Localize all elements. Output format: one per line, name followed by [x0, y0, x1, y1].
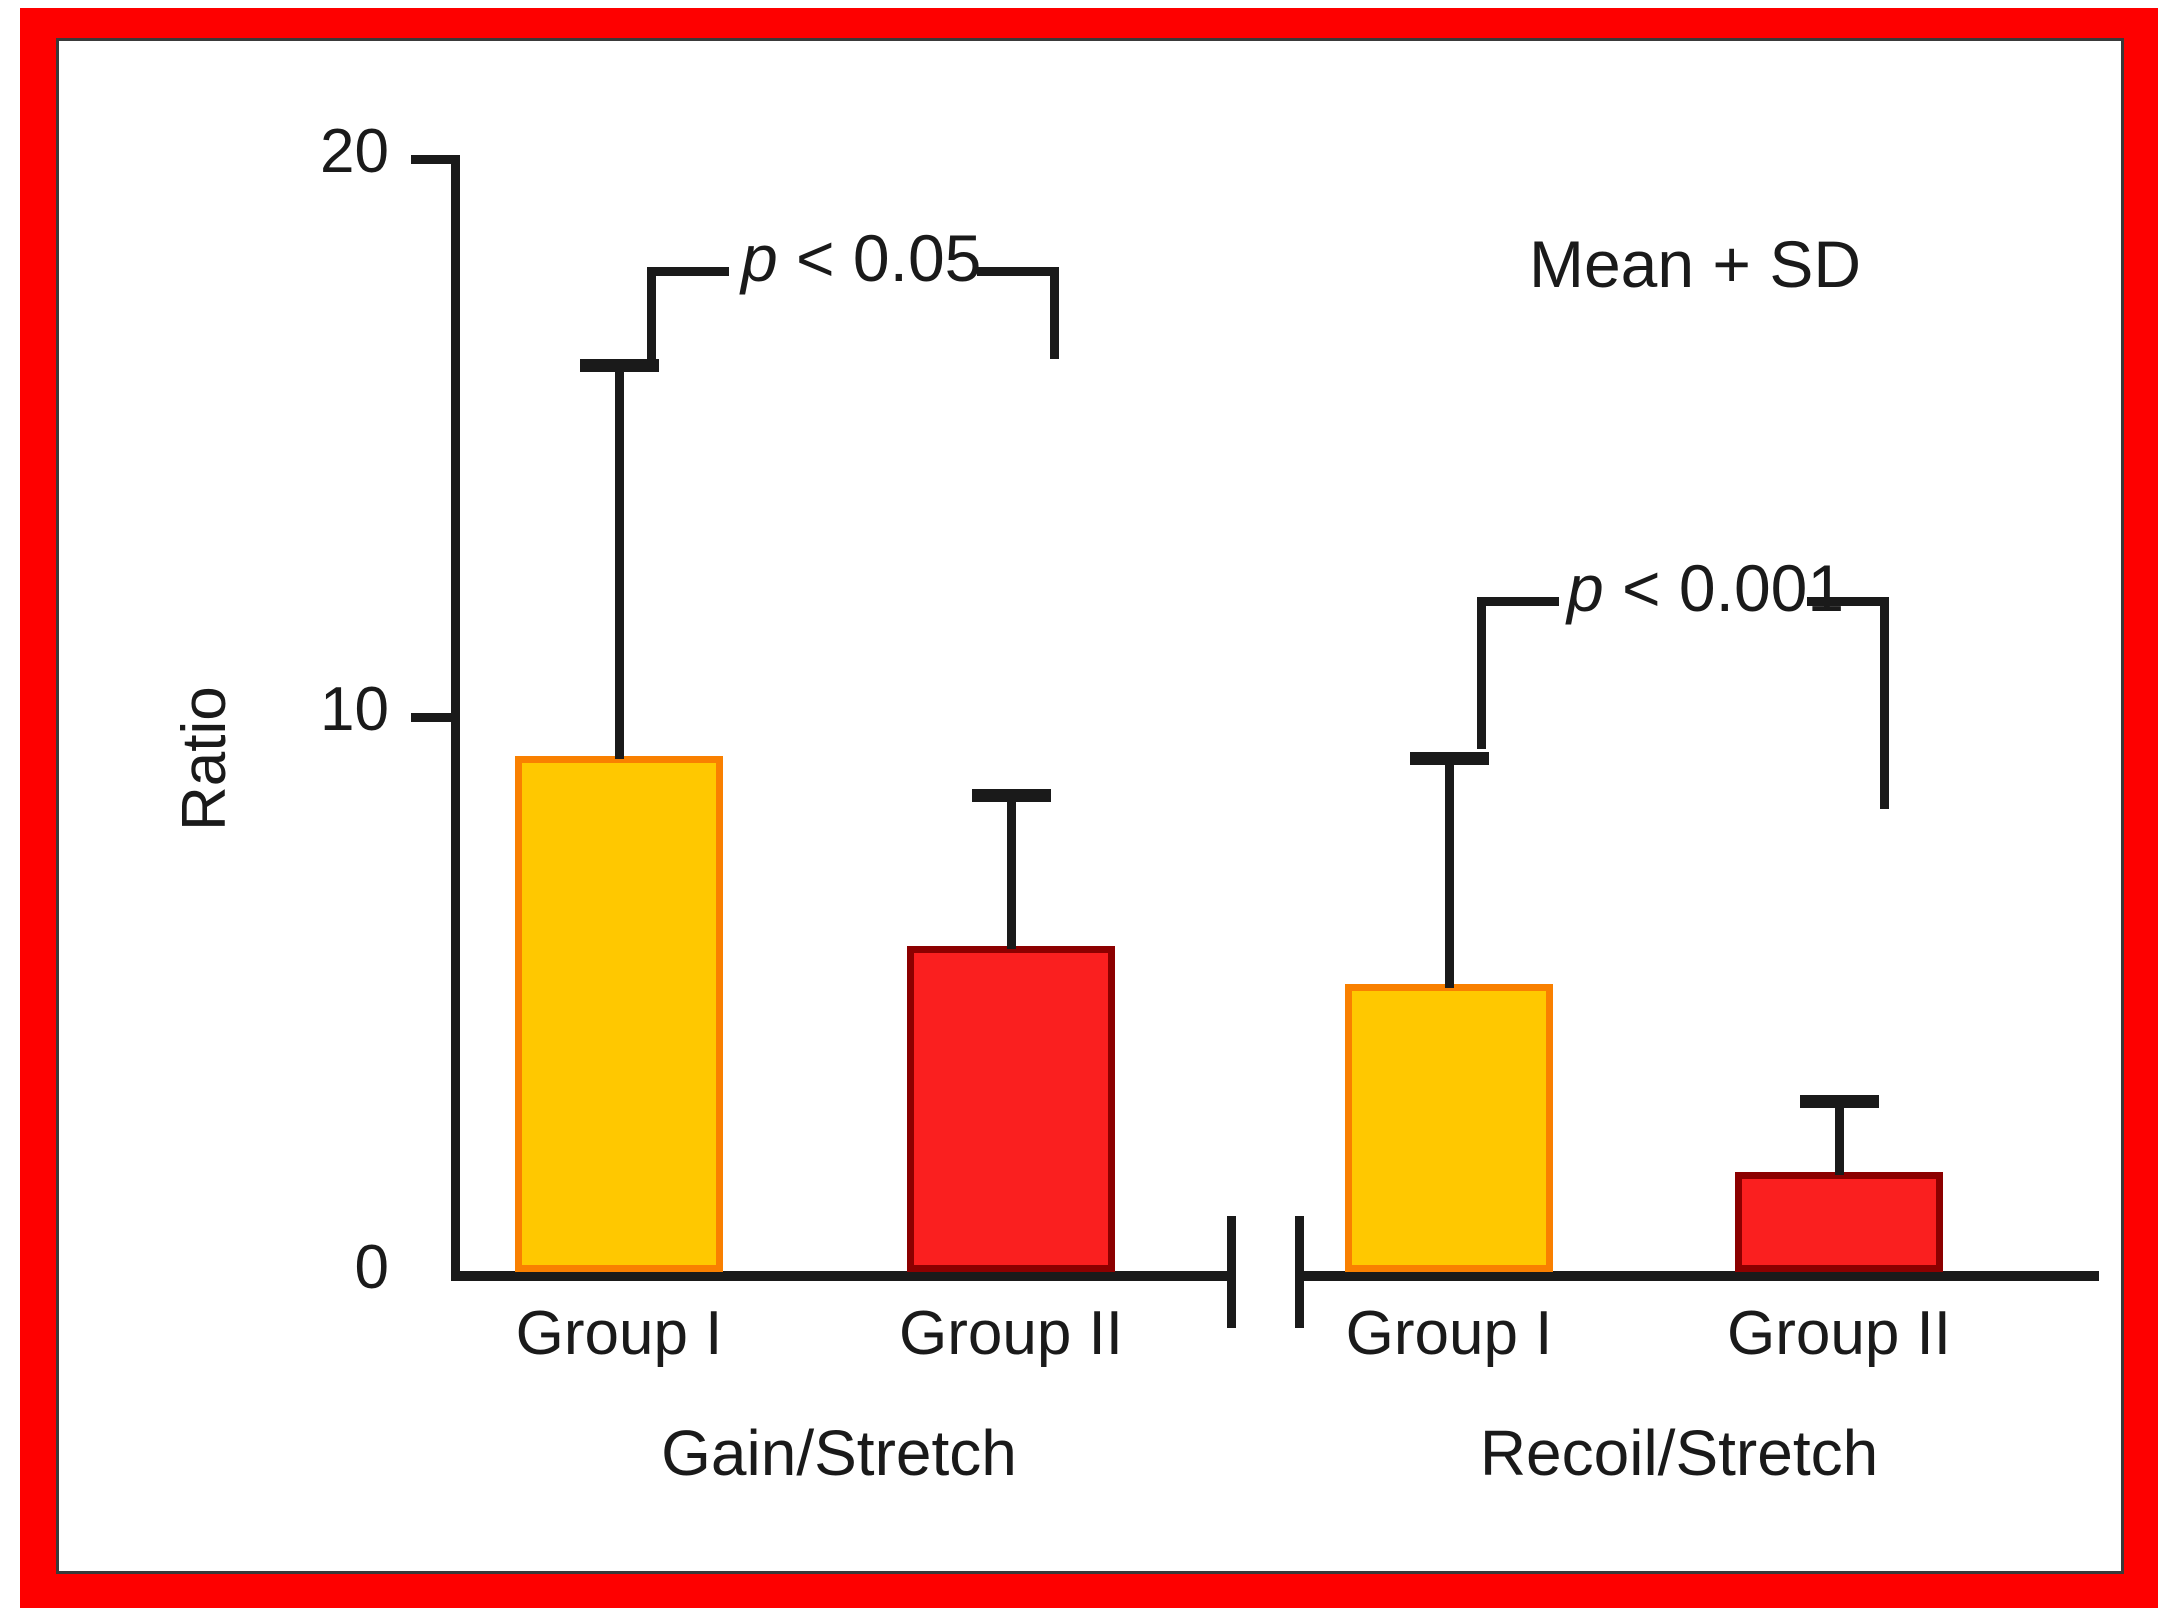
sig-bracket-arm-right-gain	[1050, 267, 1059, 359]
category-label-recoil-group-ii: Group II	[1679, 1303, 1999, 1365]
x-axis-line-left	[451, 1271, 1231, 1281]
p-symbol-gain: p	[741, 221, 778, 295]
p-value-recoil: < 0.001	[1604, 551, 1844, 625]
y-tick-label-10: 10	[219, 679, 389, 741]
panel-label-recoil-stretch: Recoil/Stretch	[1459, 1421, 1899, 1485]
errorbar-stem-gain-group-ii	[1007, 793, 1016, 949]
y-tick-label-20: 20	[219, 121, 389, 183]
bar-gain-group-ii	[907, 946, 1115, 1272]
significance-label-gain: p < 0.05	[741, 225, 981, 291]
bar-recoil-group-i	[1345, 984, 1553, 1272]
sig-bracket-top-left-gain	[647, 267, 729, 276]
panel-label-gain-stretch: Gain/Stretch	[639, 1421, 1039, 1485]
y-axis-title: Ratio	[169, 686, 240, 831]
sig-bracket-arm-left-gain	[647, 267, 656, 359]
errorbar-stem-gain-group-i	[615, 363, 624, 759]
sig-bracket-top-left-recoil	[1477, 597, 1559, 606]
category-label-gain-group-i: Group I	[459, 1303, 779, 1365]
figure-canvas: 20 10 0 Ratio	[56, 38, 2124, 1574]
sig-bracket-top-right-gain	[977, 267, 1059, 276]
errorbar-cap-recoil-group-i	[1410, 752, 1489, 765]
y-tick-10	[411, 713, 459, 722]
category-label-gain-group-ii: Group II	[851, 1303, 1171, 1365]
figure-red-border: 20 10 0 Ratio	[20, 8, 2158, 1608]
plot-area: 20 10 0 Ratio	[59, 41, 2121, 1571]
errorbar-cap-recoil-group-ii	[1800, 1095, 1879, 1108]
errorbar-stem-recoil-group-i	[1445, 756, 1454, 988]
errorbar-stem-recoil-group-ii	[1835, 1099, 1844, 1175]
sig-bracket-arm-left-recoil	[1477, 597, 1486, 749]
bar-recoil-group-ii	[1735, 1172, 1943, 1272]
sig-bracket-arm-right-recoil	[1880, 597, 1889, 809]
x-axis-line-right	[1299, 1271, 2099, 1281]
mean-sd-note: Mean + SD	[1529, 231, 1861, 297]
p-value-gain: < 0.05	[778, 221, 982, 295]
bar-gain-group-i	[515, 756, 723, 1272]
axis-break-tick-left	[1227, 1216, 1236, 1328]
y-tick-label-0: 0	[219, 1237, 389, 1299]
p-symbol-recoil: p	[1567, 551, 1604, 625]
errorbar-cap-gain-group-ii	[972, 789, 1051, 802]
y-tick-20	[411, 155, 459, 164]
significance-label-recoil: p < 0.001	[1567, 555, 1844, 621]
category-label-recoil-group-i: Group I	[1289, 1303, 1609, 1365]
